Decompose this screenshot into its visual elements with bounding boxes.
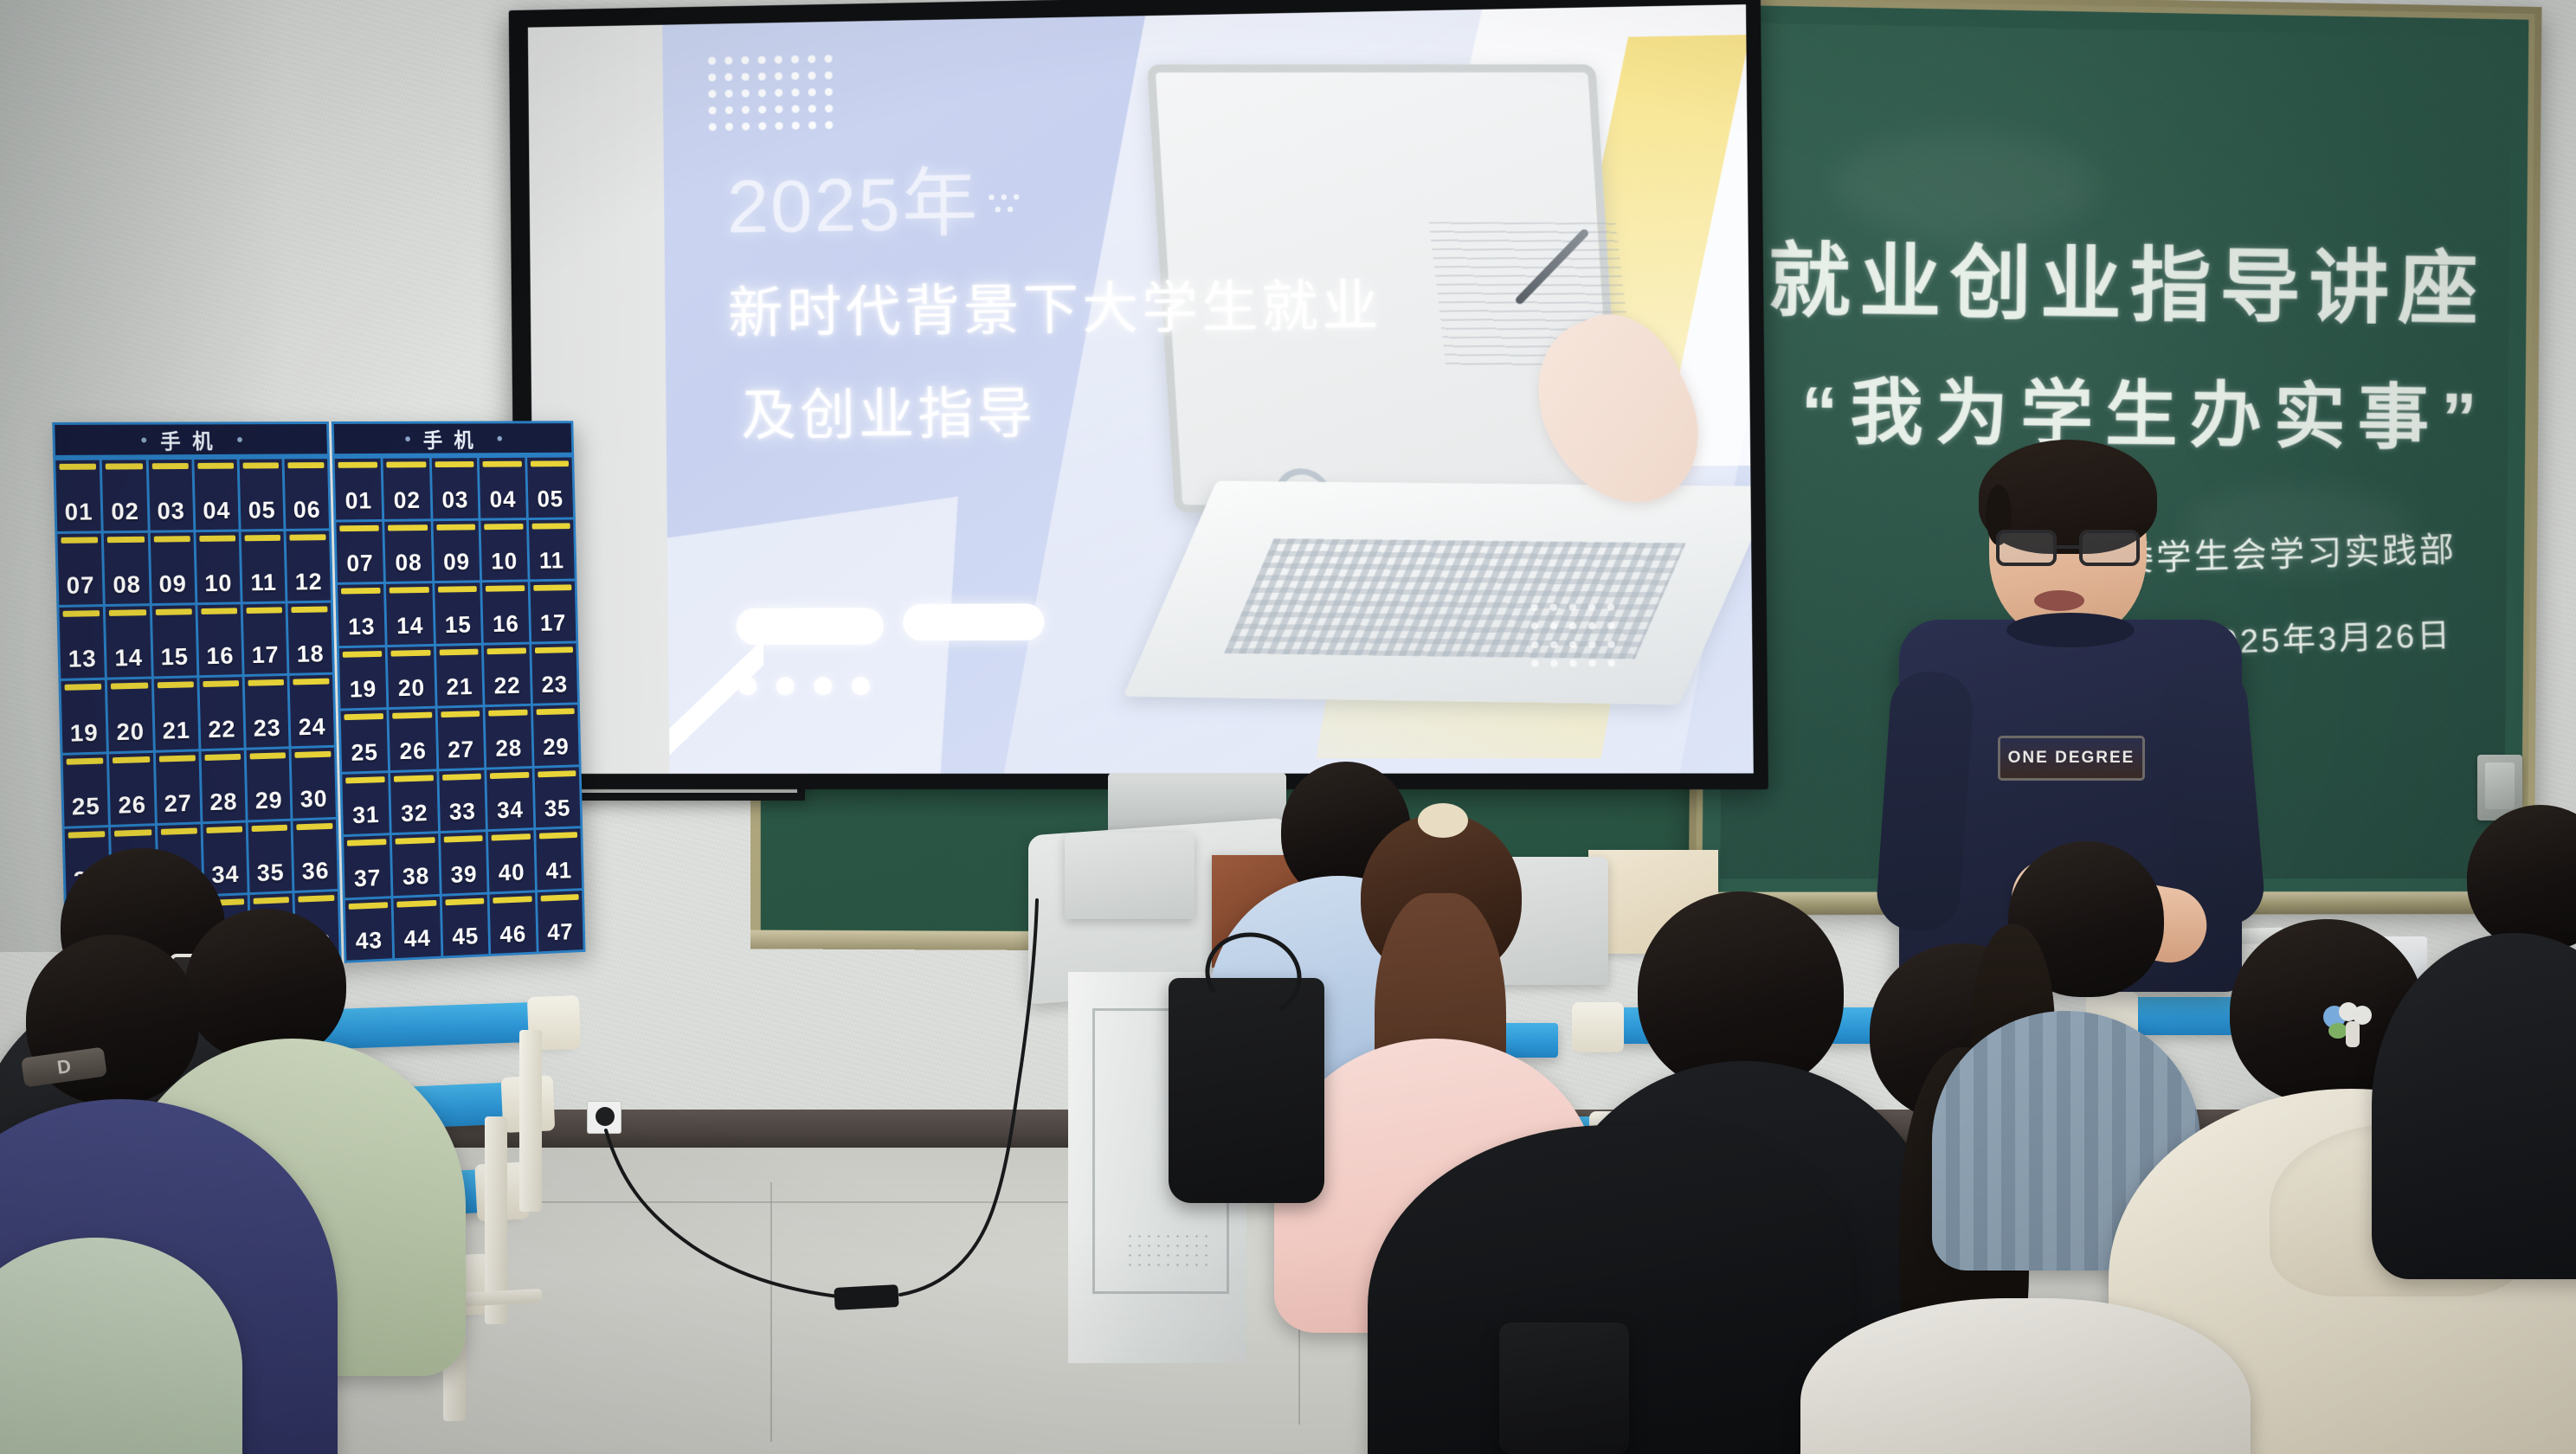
speaker-collar	[2006, 613, 2135, 647]
cable-adapter	[834, 1284, 898, 1310]
head	[185, 909, 346, 1061]
hair-tie	[1418, 803, 1468, 838]
speaker-shirt-logo: ONE DEGREE	[1998, 736, 2145, 781]
classroom-photo: 就业创业指导讲座 “我为学生办实事” 团委学生会学习实践部 2025年3月26日	[0, 0, 2576, 1454]
speaker-mouth	[2034, 590, 2084, 611]
glasses-icon	[1996, 530, 2140, 568]
backpack	[1499, 1322, 1629, 1454]
desk-leg-1	[519, 1030, 542, 1212]
speaker-shirt-logo-text: ONE DEGREE	[2008, 749, 2135, 768]
flower-hair-clip-icon	[2323, 1002, 2373, 1039]
